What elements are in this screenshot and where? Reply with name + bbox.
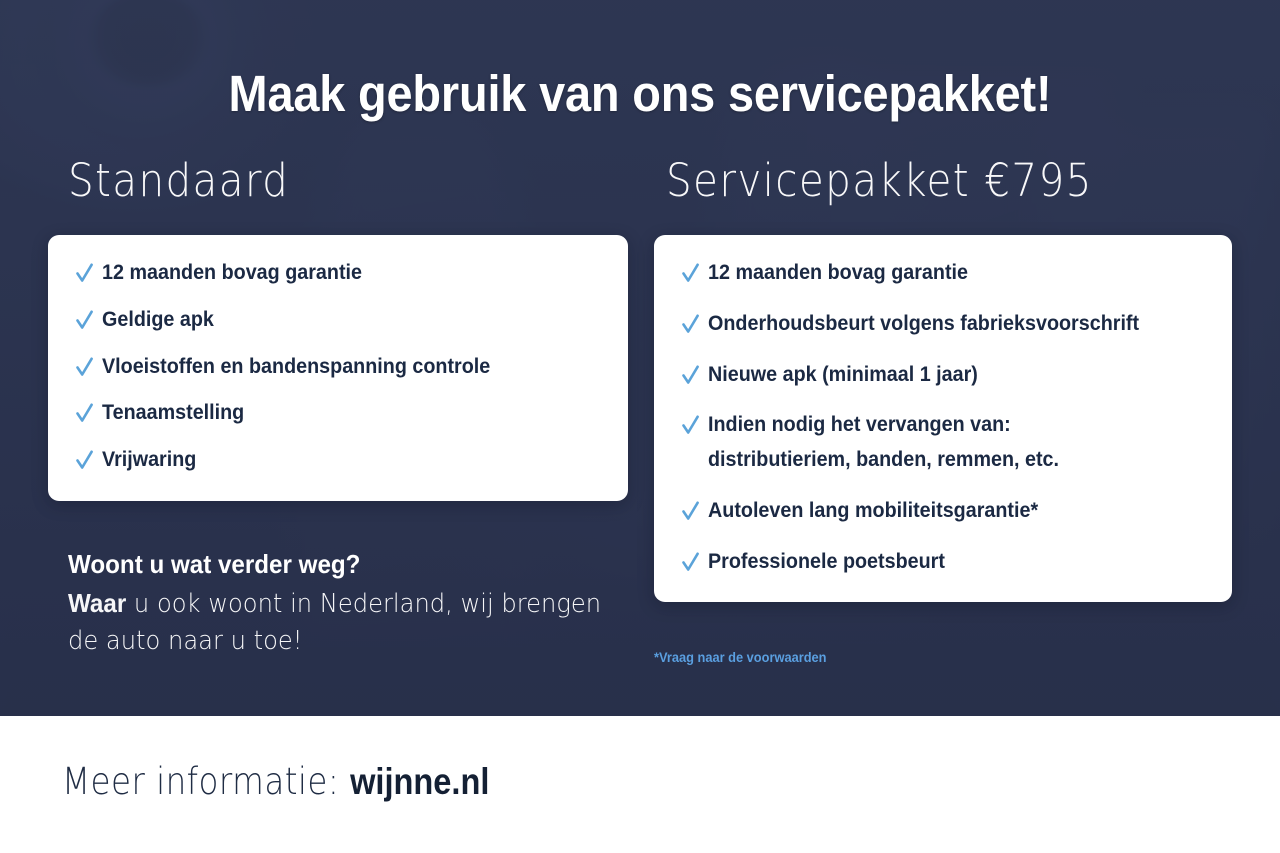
feature-label: Vloeistoffen en bandenspanning controle [102,355,490,380]
list-item: Onderhoudsbeurt volgens fabrieksvoorschr… [682,312,1204,337]
list-item: Geldige apk [76,308,600,333]
conditions-footnote: *Vraag naar de voorwaarden [654,650,826,665]
check-icon [682,551,699,573]
more-info-text: Meer informatie: wijnne.nl [62,760,489,803]
list-item: Indien nodig het vervangen van: distribu… [682,413,1204,473]
column-title-servicepakket: Servicepakket €795 [666,158,1175,203]
feature-label: Geldige apk [102,308,214,333]
feature-card-servicepakket: 12 maanden bovag garantie Onderhoudsbeur… [654,235,1232,602]
list-item: Vrijwaring [76,448,600,473]
feature-label: 12 maanden bovag garantie [708,261,968,286]
package-column-servicepakket: Servicepakket €795 12 maanden bovag gara… [654,158,1232,602]
feature-label: Nieuwe apk (minimaal 1 jaar) [708,363,978,388]
check-icon [76,262,93,284]
promo-body: Waar u ook woont in Nederland, wij breng… [68,585,626,660]
poster-content: Maak gebruik van ons servicepakket! Stan… [0,0,1280,853]
check-icon [76,356,93,378]
feature-label: Onderhoudsbeurt volgens fabrieksvoorschr… [708,312,1139,337]
list-item: Tenaamstelling [76,401,600,426]
check-icon [76,309,93,331]
feature-card-standaard: 12 maanden bovag garantie Geldige apk Vl… [48,235,628,501]
check-icon [76,449,93,471]
poster: Maak gebruik van ons servicepakket! Stan… [0,0,1280,853]
feature-sublabel: distributieriem, banden, remmen, etc. [708,448,1059,473]
delivery-promo: Woont u wat verder weg? Waar u ook woont… [68,548,668,660]
feature-label: Professionele poetsbeurt [708,550,945,575]
feature-label: Tenaamstelling [102,401,244,426]
feature-label: 12 maanden bovag garantie [102,261,362,286]
footer-bar: Meer informatie: wijnne.nl AUTOBEDRIJF W… [0,716,1280,853]
promo-question: Woont u wat verder weg? [68,548,626,582]
list-item: Nieuwe apk (minimaal 1 jaar) [682,363,1204,388]
check-icon [682,364,699,386]
more-info-prefix: Meer informatie: [62,760,350,803]
package-column-standaard: Standaard 12 maanden bovag garantie Geld… [48,158,628,501]
check-icon [682,500,699,522]
website-link[interactable]: wijnne.nl [350,761,489,802]
promo-lead: Waar [68,588,126,618]
feature-label: Autoleven lang mobiliteitsgarantie* [708,499,1038,524]
feature-label: Indien nodig het vervangen van: [708,413,1059,438]
list-item: 12 maanden bovag garantie [682,261,1204,286]
check-icon [76,402,93,424]
feature-label: Vrijwaring [102,448,196,473]
list-item: Autoleven lang mobiliteitsgarantie* [682,499,1204,524]
page-title: Maak gebruik van ons servicepakket! [51,64,1229,123]
list-item: Professionele poetsbeurt [682,550,1204,575]
promo-body-text: u ook woont in Nederland, wij brengen de… [68,589,601,656]
check-icon [682,313,699,335]
list-item: Vloeistoffen en bandenspanning controle [76,355,600,380]
check-icon [682,414,699,436]
column-title-standaard: Standaard [68,158,572,203]
check-icon [682,262,699,284]
list-item: 12 maanden bovag garantie [76,261,600,286]
